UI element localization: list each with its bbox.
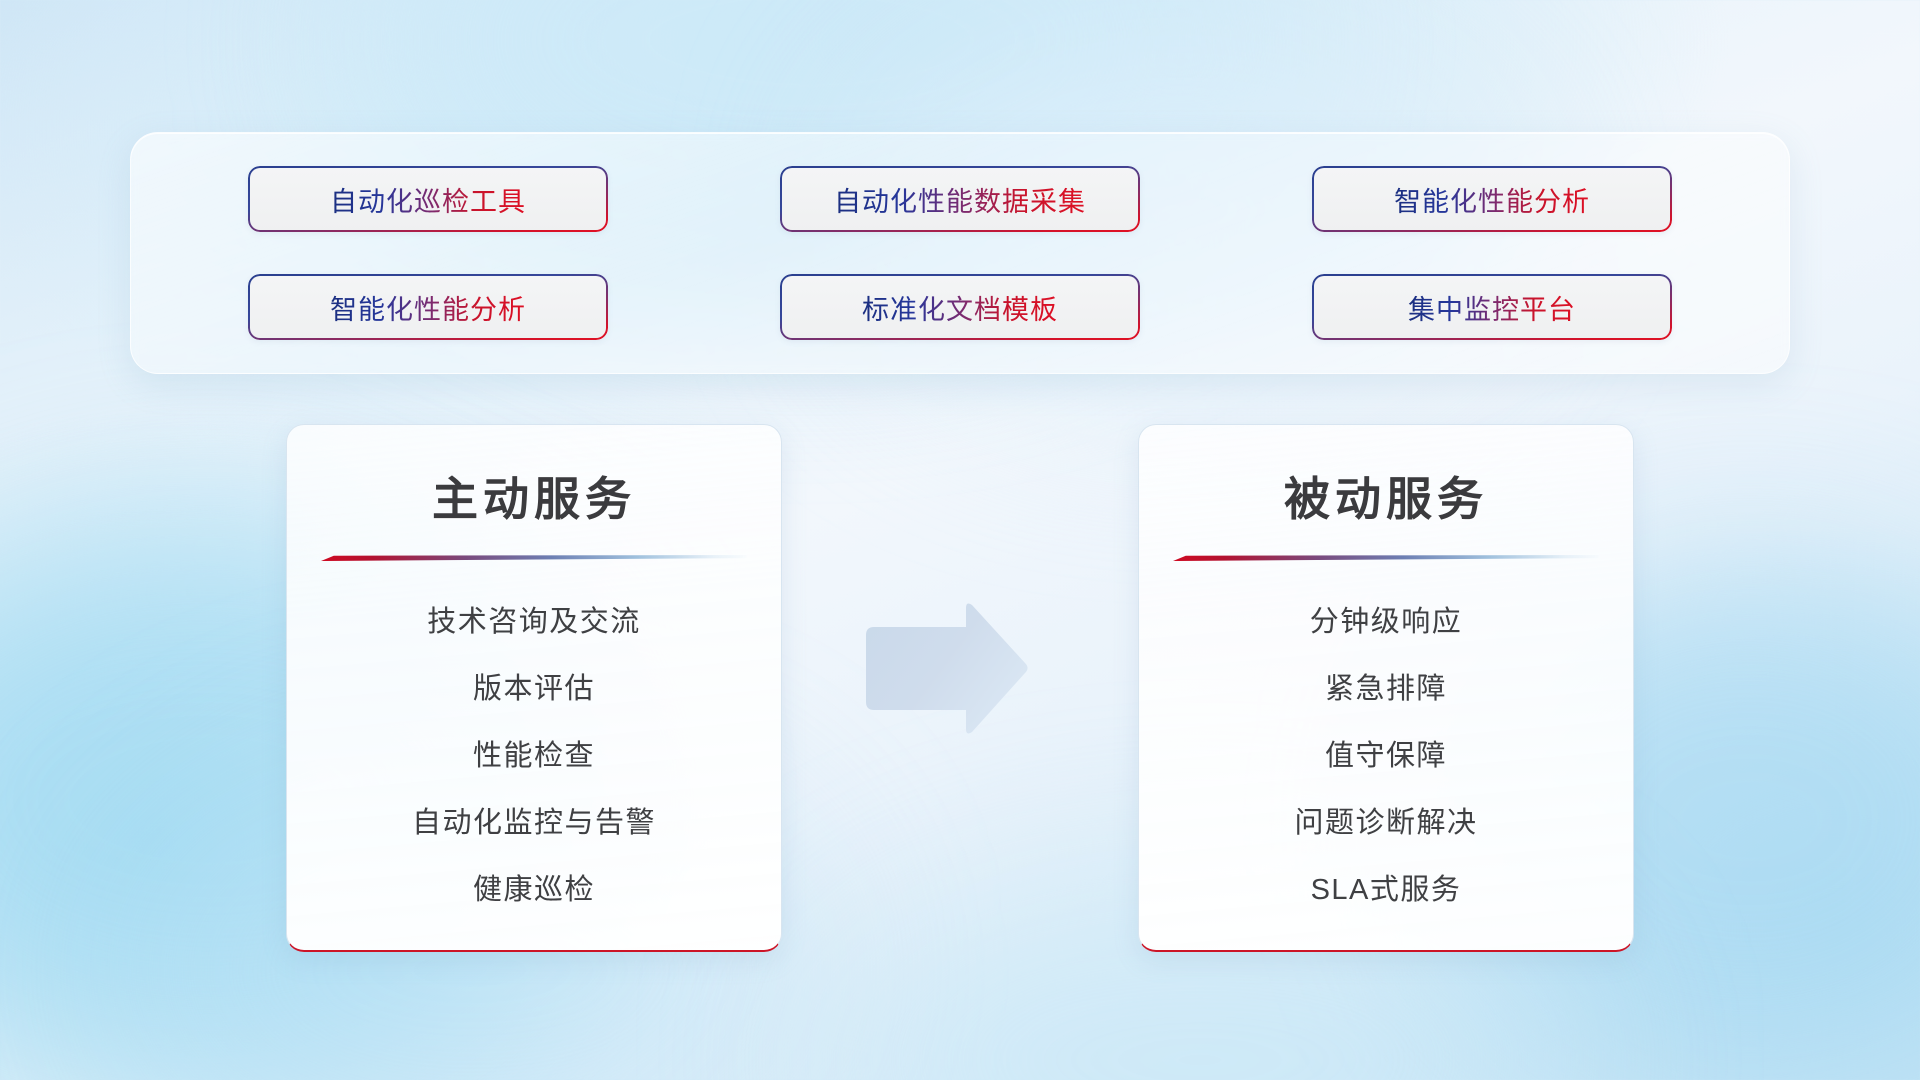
service-item-list: 分钟级响应 紧急排障 值守保障 问题诊断解决 SLA式服务 — [1173, 589, 1599, 924]
capability-tag-4[interactable]: 智能化性能分析 — [248, 274, 608, 340]
list-item: 版本评估 — [473, 656, 595, 723]
list-item: SLA式服务 — [1311, 857, 1462, 924]
card-title: 主动服务 — [432, 463, 636, 529]
list-item: 健康巡检 — [473, 857, 595, 924]
capability-tag-label: 智能化性能分析 — [330, 288, 526, 327]
capability-tag-6[interactable]: 集中监控平台 — [1312, 274, 1672, 340]
capability-tag-3[interactable]: 智能化性能分析 — [1312, 166, 1672, 232]
diagram-canvas: 自动化巡检工具 自动化性能数据采集 智能化性能分析 智能化性能分析 标准化文档模… — [0, 0, 1920, 1080]
list-item: 紧急排障 — [1325, 656, 1447, 723]
list-item: 性能检查 — [473, 723, 595, 790]
title-underline-accent — [1173, 555, 1599, 561]
title-underline-accent — [321, 555, 747, 561]
service-item-list: 技术咨询及交流 版本评估 性能检查 自动化监控与告警 健康巡检 — [321, 589, 747, 924]
card-title: 被动服务 — [1284, 463, 1488, 529]
capability-tag-label: 标准化文档模板 — [862, 288, 1058, 327]
capability-tag-label: 自动化性能数据采集 — [834, 180, 1086, 219]
list-item: 问题诊断解决 — [1294, 790, 1477, 857]
capability-tag-label: 集中监控平台 — [1408, 288, 1576, 327]
service-card-reactive: 被动服务 分钟级响应 紧急排障 值守保障 问题诊断解决 SLA式服务 — [1138, 424, 1634, 952]
right-arrow-icon — [862, 602, 1030, 736]
service-card-proactive: 主动服务 技术咨询及交流 版本评估 性能检查 自动化监控与告警 健康巡检 — [286, 424, 782, 952]
list-item: 自动化监控与告警 — [412, 790, 656, 857]
list-item: 技术咨询及交流 — [427, 589, 641, 656]
capability-panel: 自动化巡检工具 自动化性能数据采集 智能化性能分析 智能化性能分析 标准化文档模… — [130, 132, 1790, 374]
capability-tag-label: 自动化巡检工具 — [330, 180, 526, 219]
capability-tag-2[interactable]: 自动化性能数据采集 — [780, 166, 1140, 232]
capability-tag-label: 智能化性能分析 — [1394, 180, 1590, 219]
capability-tag-1[interactable]: 自动化巡检工具 — [248, 166, 608, 232]
list-item: 值守保障 — [1325, 723, 1447, 790]
list-item: 分钟级响应 — [1310, 589, 1463, 656]
capability-tag-5[interactable]: 标准化文档模板 — [780, 274, 1140, 340]
